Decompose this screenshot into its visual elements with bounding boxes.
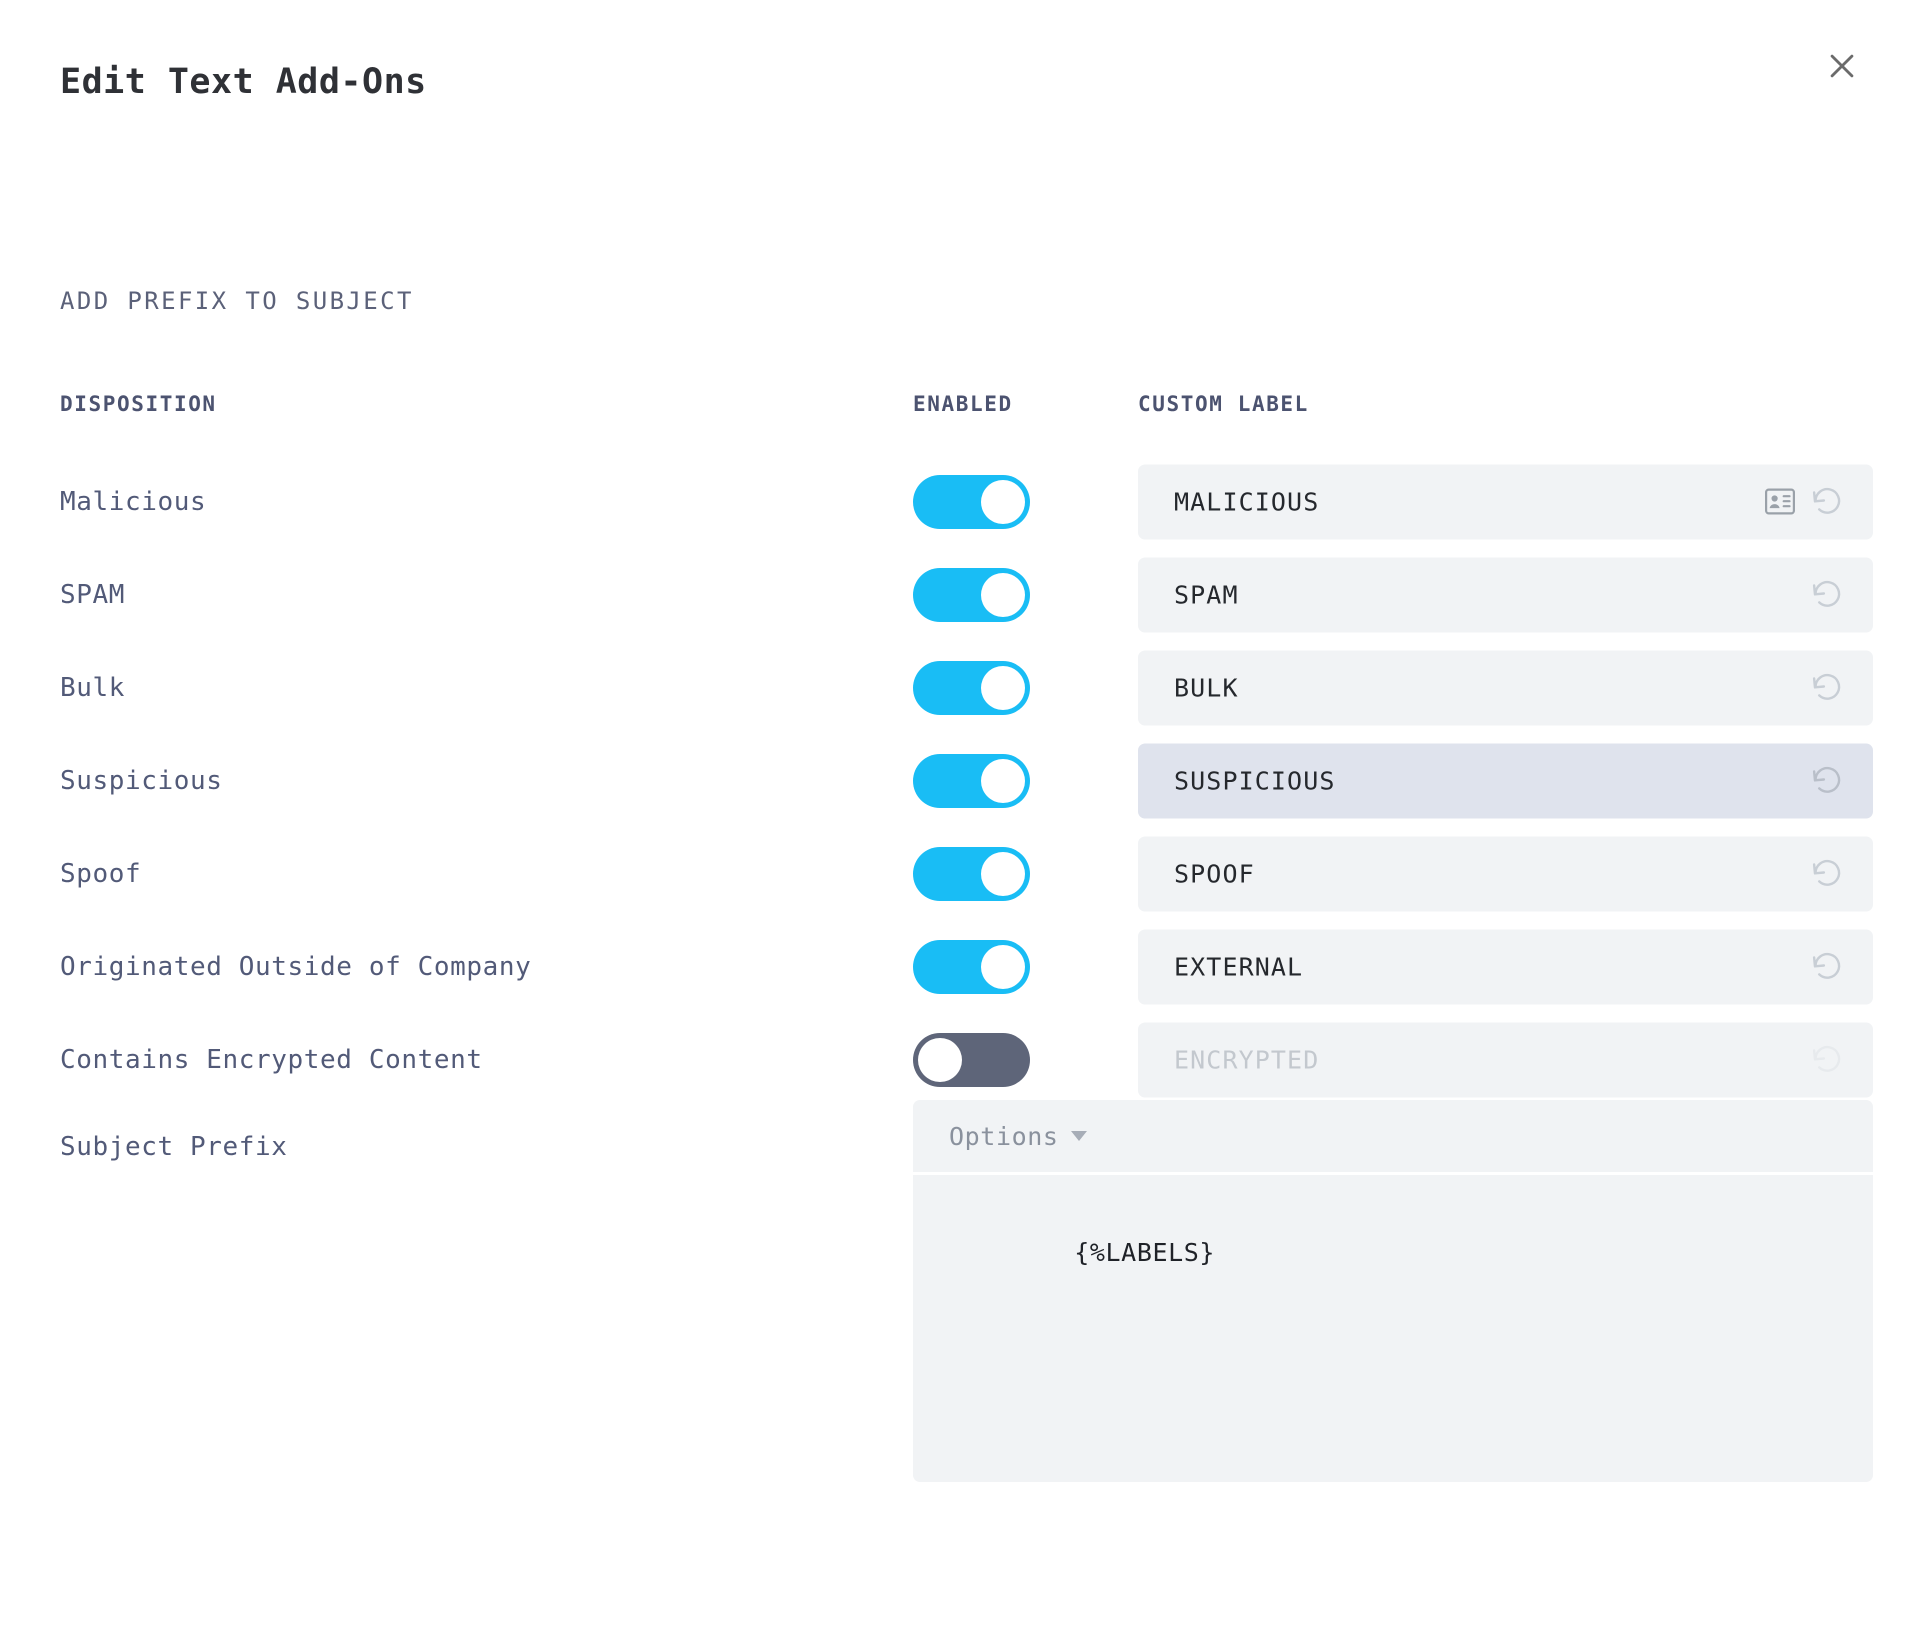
custom-label-input: ENCRYPTED (1138, 1022, 1873, 1097)
enabled-toggle[interactable] (913, 661, 1030, 715)
table-row: SPAMSPAM (0, 548, 1908, 641)
field-icon-group (1811, 764, 1873, 798)
disposition-label: Bulk (60, 673, 125, 703)
enabled-toggle[interactable] (913, 475, 1030, 529)
options-dropdown-label: Options (949, 1122, 1059, 1151)
toggle-knob (981, 852, 1025, 896)
enabled-toggle[interactable] (913, 847, 1030, 901)
page-title: Edit Text Add-Ons (60, 62, 427, 102)
custom-label-value: SPAM (1138, 580, 1811, 609)
column-header-custom-label: CUSTOM LABEL (1138, 392, 1309, 416)
table-row: MaliciousMALICIOUS (0, 455, 1908, 548)
disposition-rows: MaliciousMALICIOUSSPAMSPAMBulkBULKSuspic… (0, 455, 1908, 1106)
insert-variable-icon[interactable] (1765, 489, 1795, 515)
subject-prefix-label: Subject Prefix (60, 1132, 288, 1162)
reset-icon[interactable] (1811, 578, 1845, 612)
custom-label-value: BULK (1138, 673, 1811, 702)
dialog-header: Edit Text Add-Ons (0, 0, 1908, 140)
custom-label-input[interactable]: MALICIOUS (1138, 464, 1873, 539)
reset-icon[interactable] (1811, 485, 1845, 519)
disposition-label: Suspicious (60, 766, 223, 796)
custom-label-input[interactable]: SPAM (1138, 557, 1873, 632)
custom-label-value: SUSPICIOUS (1138, 766, 1811, 795)
field-icon-group (1811, 857, 1873, 891)
reset-icon[interactable] (1811, 671, 1845, 705)
custom-label-input[interactable]: SUSPICIOUS (1138, 743, 1873, 818)
toggle-knob (981, 945, 1025, 989)
table-row: Contains Encrypted ContentENCRYPTED (0, 1013, 1908, 1106)
editor-toolbar: Options (913, 1100, 1873, 1172)
custom-label-value: ENCRYPTED (1138, 1045, 1811, 1074)
field-icon-group (1765, 485, 1873, 519)
table-row: Originated Outside of CompanyEXTERNAL (0, 920, 1908, 1013)
reset-icon (1811, 1043, 1845, 1077)
subject-prefix-editor: Options {%LABELS} (913, 1100, 1873, 1482)
close-icon (1825, 49, 1859, 83)
toggle-knob (981, 573, 1025, 617)
toggle-knob (981, 480, 1025, 524)
table-row: BulkBULK (0, 641, 1908, 734)
section-label: ADD PREFIX TO SUBJECT (60, 287, 414, 315)
edit-text-add-ons-dialog: Edit Text Add-Ons ADD PREFIX TO SUBJECT … (0, 0, 1908, 1650)
disposition-label: SPAM (60, 580, 125, 610)
resize-grip-icon[interactable] (1844, 1453, 1866, 1475)
subject-prefix-textarea[interactable]: {%LABELS} (913, 1172, 1873, 1482)
field-icon-group (1811, 1043, 1873, 1077)
close-button[interactable] (1814, 38, 1870, 94)
custom-label-input[interactable]: BULK (1138, 650, 1873, 725)
table-row: SpoofSPOOF (0, 827, 1908, 920)
toggle-knob (981, 666, 1025, 710)
chevron-down-icon (1071, 1131, 1087, 1141)
disposition-label: Spoof (60, 859, 141, 889)
subject-prefix-value: {%LABELS} (1074, 1238, 1215, 1267)
disposition-label: Malicious (60, 487, 206, 517)
reset-icon[interactable] (1811, 764, 1845, 798)
custom-label-value: MALICIOUS (1138, 487, 1765, 516)
disposition-label: Originated Outside of Company (60, 952, 531, 982)
options-dropdown[interactable]: Options (949, 1122, 1087, 1151)
toggle-knob (918, 1038, 962, 1082)
field-icon-group (1811, 671, 1873, 705)
custom-label-input[interactable]: SPOOF (1138, 836, 1873, 911)
column-header-disposition: DISPOSITION (60, 392, 217, 416)
enabled-toggle[interactable] (913, 568, 1030, 622)
field-icon-group (1811, 950, 1873, 984)
table-row: SuspiciousSUSPICIOUS (0, 734, 1908, 827)
field-icon-group (1811, 578, 1873, 612)
custom-label-value: SPOOF (1138, 859, 1811, 888)
custom-label-value: EXTERNAL (1138, 952, 1811, 981)
reset-icon[interactable] (1811, 950, 1845, 984)
custom-label-input[interactable]: EXTERNAL (1138, 929, 1873, 1004)
enabled-toggle[interactable] (913, 754, 1030, 808)
disposition-label: Contains Encrypted Content (60, 1045, 483, 1075)
reset-icon[interactable] (1811, 857, 1845, 891)
column-header-enabled: ENABLED (913, 392, 1013, 416)
enabled-toggle[interactable] (913, 940, 1030, 994)
toggle-knob (981, 759, 1025, 803)
enabled-toggle[interactable] (913, 1033, 1030, 1087)
